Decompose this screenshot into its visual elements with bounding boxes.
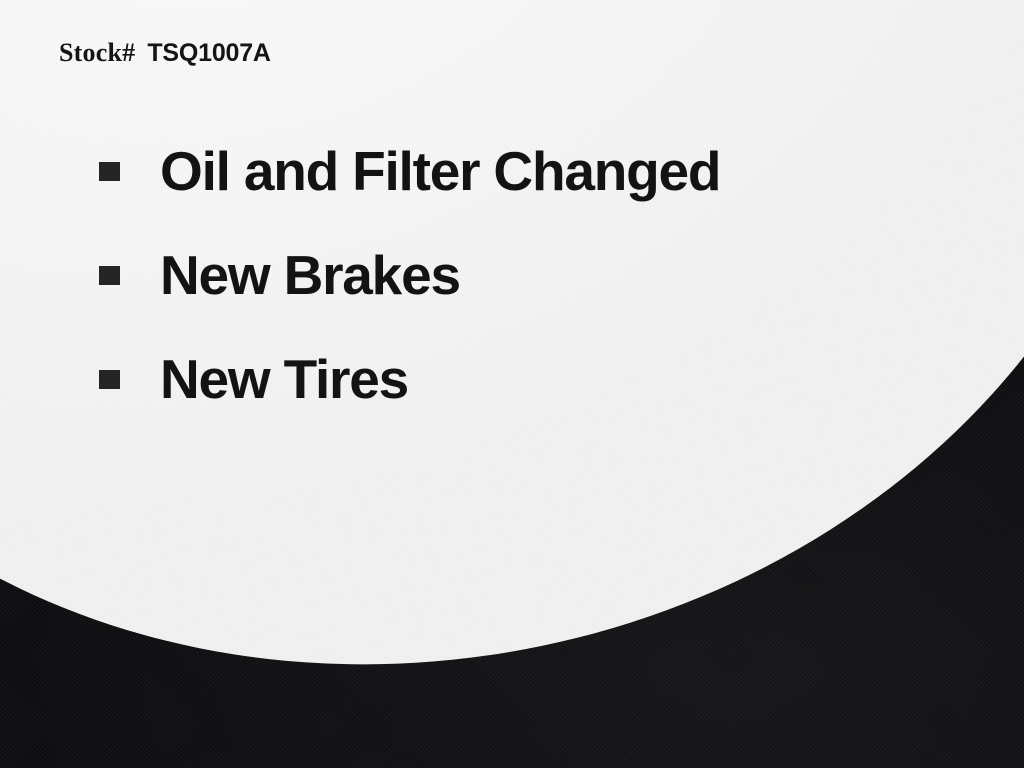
slide-content: Stock# TSQ1007A Oil and Filter Changed N… [0, 0, 1024, 768]
stock-number-label: Stock# [59, 38, 135, 68]
square-bullet-icon [99, 370, 120, 389]
list-item: New Tires [99, 327, 720, 431]
list-item-label: New Tires [160, 352, 408, 407]
stock-number-value: TSQ1007A [147, 39, 270, 68]
list-item: New Brakes [99, 223, 720, 327]
list-item: Oil and Filter Changed [99, 119, 720, 223]
square-bullet-icon [99, 162, 120, 181]
feature-bullet-list: Oil and Filter Changed New Brakes New Ti… [99, 119, 720, 431]
list-item-label: New Brakes [160, 248, 460, 303]
presentation-slide: Stock# TSQ1007A Oil and Filter Changed N… [0, 0, 1024, 768]
list-item-label: Oil and Filter Changed [160, 144, 720, 199]
square-bullet-icon [99, 266, 120, 285]
stock-number-line: Stock# TSQ1007A [59, 38, 271, 68]
